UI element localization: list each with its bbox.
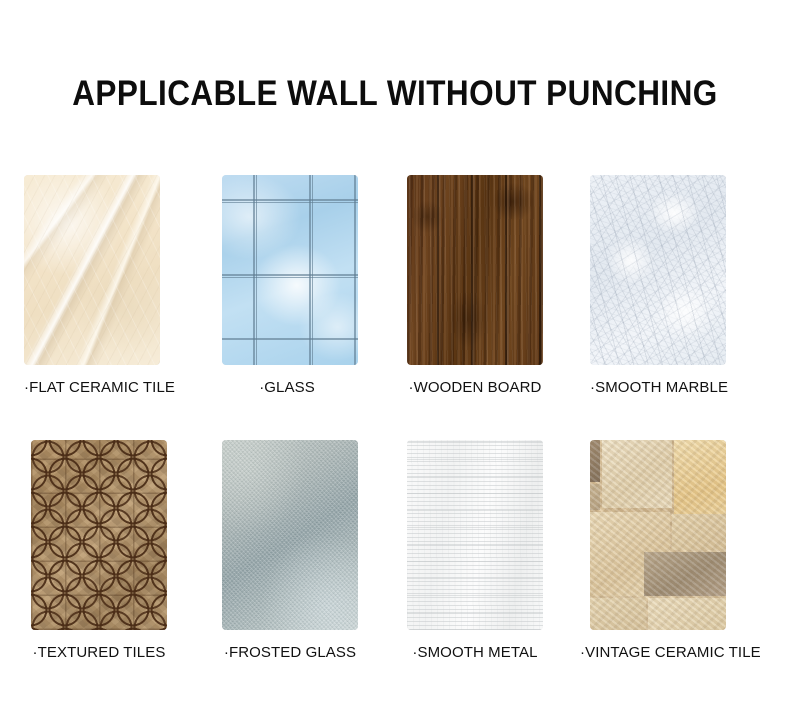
- caption-smooth-marble: ·SMOOTH MARBLE: [590, 379, 726, 396]
- surface-card-glass[interactable]: ·GLASS: [222, 175, 358, 396]
- swatch-glass: [222, 175, 358, 365]
- texture-frosted-glass: [222, 440, 358, 630]
- caption-flat-ceramic-tile: ·FLAT CERAMIC TILE: [24, 379, 160, 396]
- swatch-vintage-ceramic-tile: [590, 440, 726, 630]
- texture-wooden-board: [407, 175, 543, 365]
- caption-smooth-metal: ·SMOOTH METAL: [407, 644, 543, 661]
- swatch-frosted-glass: [222, 440, 358, 630]
- surface-card-textured-tiles[interactable]: ·TEXTURED TILES: [31, 440, 167, 661]
- caption-vintage-ceramic-tile: ·VINTAGE CERAMIC TILE: [580, 644, 726, 661]
- caption-textured-tiles: ·TEXTURED TILES: [31, 644, 167, 661]
- caption-frosted-glass: ·FROSTED GLASS: [222, 644, 358, 661]
- surface-card-flat-ceramic-tile[interactable]: ·FLAT CERAMIC TILE: [24, 175, 160, 396]
- swatch-smooth-metal: [407, 440, 543, 630]
- glass-mullion-grid: [222, 175, 358, 365]
- surface-card-smooth-marble[interactable]: ·SMOOTH MARBLE: [590, 175, 726, 396]
- surface-card-wooden-board[interactable]: ·WOODEN BOARD: [407, 175, 543, 396]
- vintage-stone-blocks: [590, 440, 726, 630]
- texture-smooth-metal: [407, 440, 543, 630]
- surface-card-frosted-glass[interactable]: ·FROSTED GLASS: [222, 440, 358, 661]
- surface-card-smooth-metal[interactable]: ·SMOOTH METAL: [407, 440, 543, 661]
- swatch-textured-tiles: [31, 440, 167, 630]
- texture-textured-tiles: [31, 440, 167, 630]
- texture-flat-ceramic-tile: [24, 175, 160, 365]
- surface-grid: ·FLAT CERAMIC TILE ·GLASS: [0, 0, 790, 714]
- caption-wooden-board: ·WOODEN BOARD: [407, 379, 543, 396]
- surface-card-vintage-ceramic-tile[interactable]: ·VINTAGE CERAMIC TILE: [590, 440, 726, 661]
- texture-smooth-marble: [590, 175, 726, 365]
- swatch-wooden-board: [407, 175, 543, 365]
- swatch-smooth-marble: [590, 175, 726, 365]
- caption-glass: ·GLASS: [216, 379, 358, 396]
- swatch-flat-ceramic-tile: [24, 175, 160, 365]
- infographic-root: APPLICABLE WALL WITHOUT PUNCHING ·FLAT C…: [0, 0, 790, 714]
